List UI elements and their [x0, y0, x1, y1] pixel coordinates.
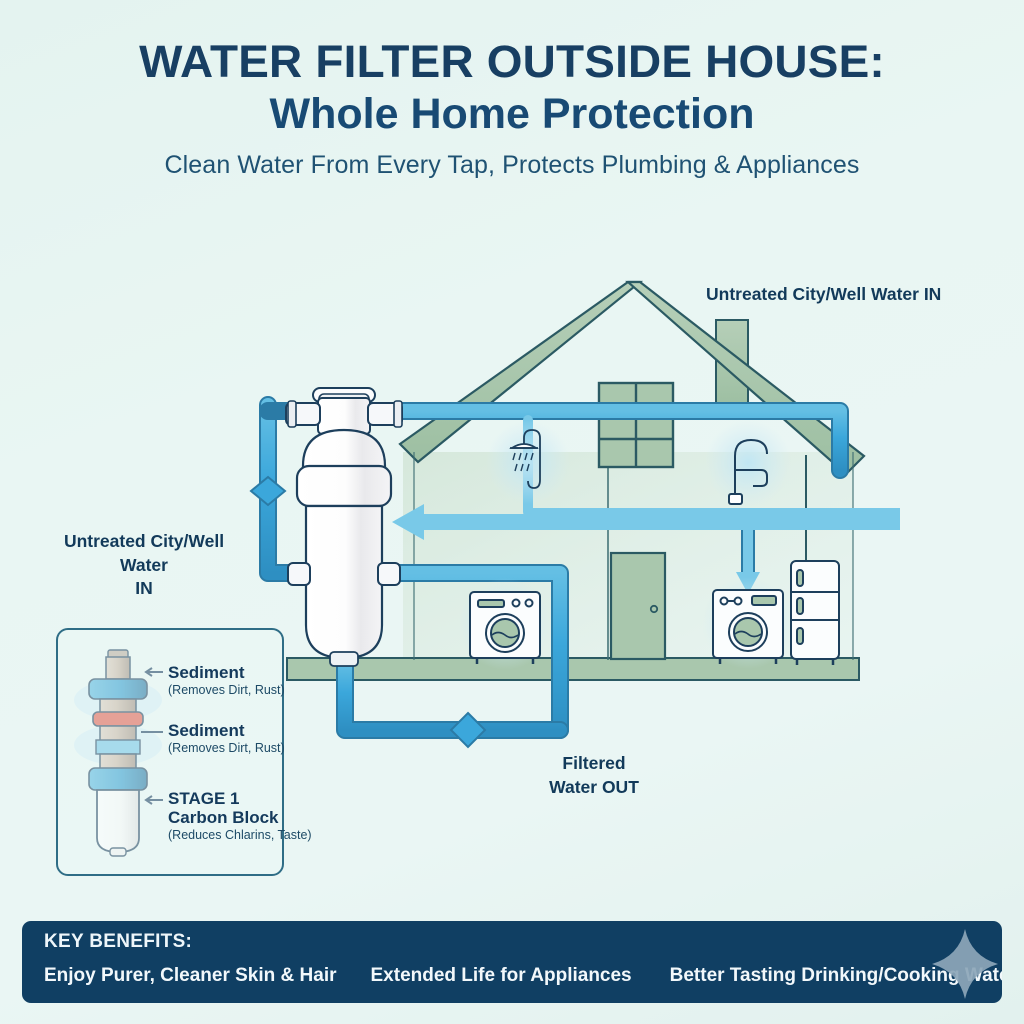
door: [611, 553, 665, 659]
benefit-item-1: Enjoy Purer, Cleaner Skin & Hair: [44, 965, 337, 987]
shower-fixture-group: [486, 420, 570, 504]
washing-machine-icon: [470, 592, 540, 664]
label-filtered-water-out: Filtered Water OUT: [534, 752, 654, 799]
housing-port-in-flange: [288, 401, 296, 427]
housing-port-out-flange: [394, 401, 402, 427]
label-in-left-line2: IN: [38, 577, 250, 601]
housing-sump: [306, 506, 382, 658]
legend-item-carbon-block: STAGE 1 Carbon Block (Reduces Chlarins, …: [168, 789, 312, 843]
legend-item-2-subtitle: (Removes Dirt, Rust): [168, 741, 285, 756]
legend-item-1-title: Sediment: [168, 663, 285, 682]
legend-item-3-title-line1: STAGE 1: [168, 789, 312, 808]
washing-machine-left-group: [459, 578, 551, 670]
faucet-fixture-group: [705, 420, 791, 506]
housing-lower-port-left: [288, 563, 310, 585]
window: [599, 383, 673, 467]
legend-item-3-title-line2: Carbon Block: [168, 808, 312, 827]
legend-item-sediment-2: Sediment (Removes Dirt, Rust): [168, 721, 285, 756]
label-in-left-line1: Untreated City/Well Water: [38, 530, 250, 577]
filter-housing: [286, 388, 402, 666]
label-out-line2: Water OUT: [534, 776, 654, 800]
infographic-root: WATER FILTER OUTSIDE HOUSE: Whole Home P…: [0, 0, 1024, 1024]
washing-machine-icon-2: [713, 590, 783, 664]
washing-machine-right-group: [702, 577, 794, 669]
legend-item-sediment-1: Sediment (Removes Dirt, Rust): [168, 663, 285, 698]
key-benefits-heading: KEY BENEFITS:: [44, 931, 192, 953]
faucet-glow: [705, 420, 791, 506]
refrigerator-icon: [791, 561, 839, 665]
housing-lower-port-right: [378, 563, 400, 585]
legend-item-2-title: Sediment: [168, 721, 285, 740]
legend-item-1-subtitle: (Removes Dirt, Rust): [168, 683, 285, 698]
label-out-line1: Filtered: [534, 752, 654, 776]
key-benefits-banner: KEY BENEFITS: Enjoy Purer, Cleaner Skin …: [22, 921, 1002, 1003]
shower-glow: [486, 420, 570, 504]
label-untreated-water-in-left: Untreated City/Well Water IN: [38, 530, 250, 601]
housing-collar: [297, 466, 391, 506]
housing-drain: [330, 652, 358, 666]
valve-icon[interactable]: [251, 477, 285, 505]
sparkle-icon: [930, 927, 1000, 1001]
legend-item-3-subtitle: (Reduces Chlarins, Taste): [168, 828, 312, 843]
benefit-item-2: Extended Life for Appliances: [371, 965, 632, 987]
label-untreated-water-in-right: Untreated City/Well Water IN: [706, 283, 941, 307]
key-benefits-list: Enjoy Purer, Cleaner Skin & Hair Extende…: [44, 965, 984, 987]
outlet-valve-icon[interactable]: [451, 713, 485, 747]
housing-neck: [318, 398, 370, 434]
